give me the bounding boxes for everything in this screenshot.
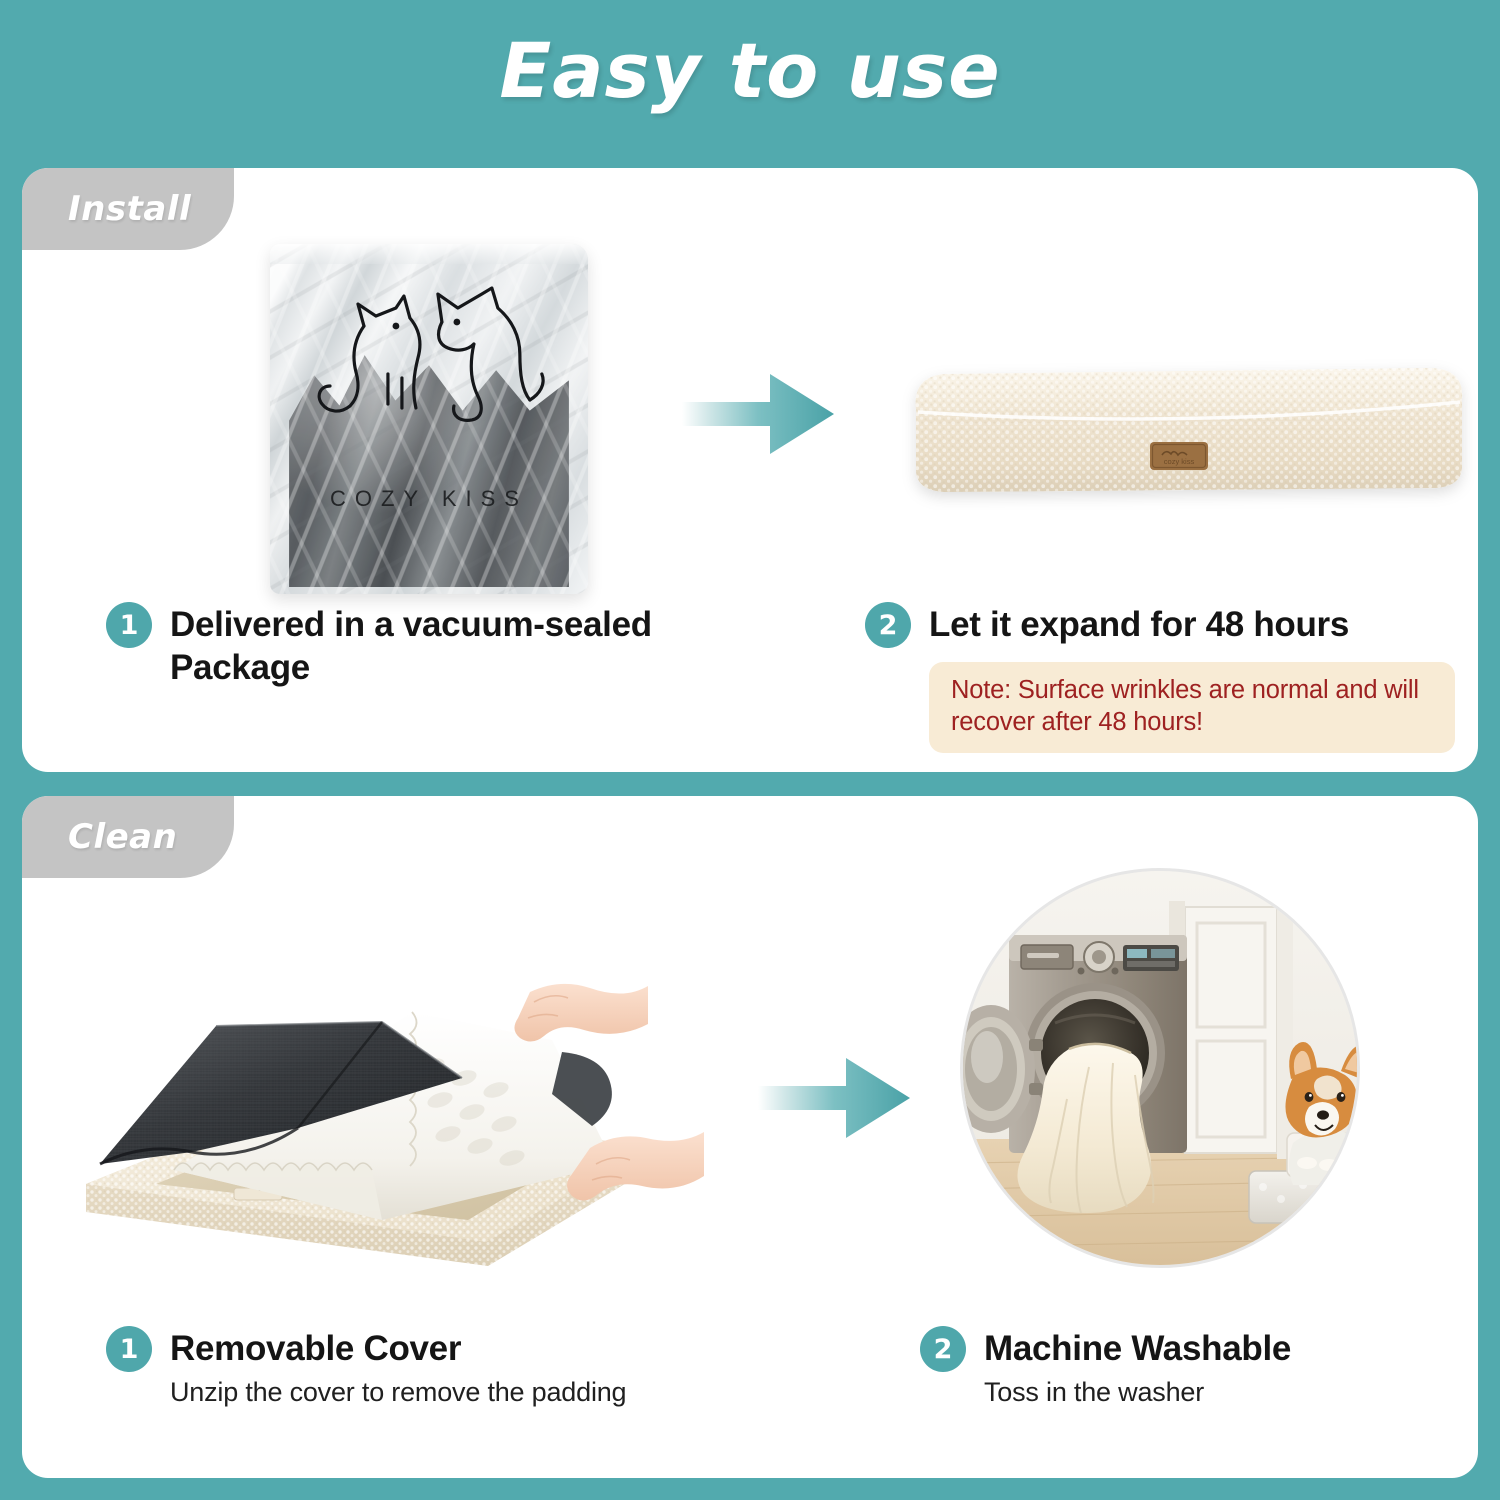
step-badge-2: 2 — [920, 1326, 966, 1372]
package-bag: COZY KISS — [270, 244, 588, 594]
arrow-right-icon — [674, 364, 874, 464]
section-tag-install: Install — [22, 168, 234, 250]
svg-text:cozy kiss: cozy kiss — [1164, 457, 1195, 466]
clean-card: Clean — [22, 796, 1478, 1478]
package-brand-label: COZY KISS — [278, 486, 580, 512]
step-title-2: Let it expand for 48 hours — [929, 604, 1349, 647]
clean-step-2: 2 Machine Washable Toss in the washer — [920, 1326, 1460, 1408]
washing-machine-photo — [960, 868, 1360, 1268]
step-subtitle-2: Toss in the washer — [984, 1377, 1291, 1408]
step-subtitle-1: Unzip the cover to remove the padding — [170, 1377, 626, 1408]
section-tag-label: Clean — [68, 817, 177, 857]
removable-cover-image — [82, 974, 734, 1274]
bed-leather-tag: cozy kiss — [1150, 442, 1208, 470]
section-tag-label: Install — [68, 189, 191, 229]
install-card: Install — [22, 168, 1478, 772]
cat-dog-line-art-icon — [292, 265, 572, 461]
clean-step-1: 1 Removable Cover Unzip the cover to rem… — [106, 1326, 766, 1408]
step-title-1: Delivered in a vacuum-sealed Package — [170, 604, 766, 689]
arrow-right-icon — [750, 1048, 950, 1148]
vacuum-package-image: COZY KISS — [270, 244, 588, 594]
dog-bed-image: cozy kiss — [888, 358, 1478, 510]
step-badge-1: 1 — [106, 602, 152, 648]
step-title-2: Machine Washable — [984, 1328, 1291, 1371]
section-tag-clean: Clean — [22, 796, 234, 878]
package-seal — [270, 244, 588, 264]
expand-note-box: Note: Surface wrinkles are normal and wi… — [929, 662, 1455, 753]
step-badge-1: 1 — [106, 1326, 152, 1372]
page-title: Easy to use — [0, 26, 1500, 115]
install-step-2: 2 Let it expand for 48 hours Note: Surfa… — [865, 602, 1455, 753]
step-badge-2: 2 — [865, 602, 911, 648]
install-step-1: 1 Delivered in a vacuum-sealed Package — [106, 602, 766, 689]
step-title-1: Removable Cover — [170, 1328, 626, 1371]
